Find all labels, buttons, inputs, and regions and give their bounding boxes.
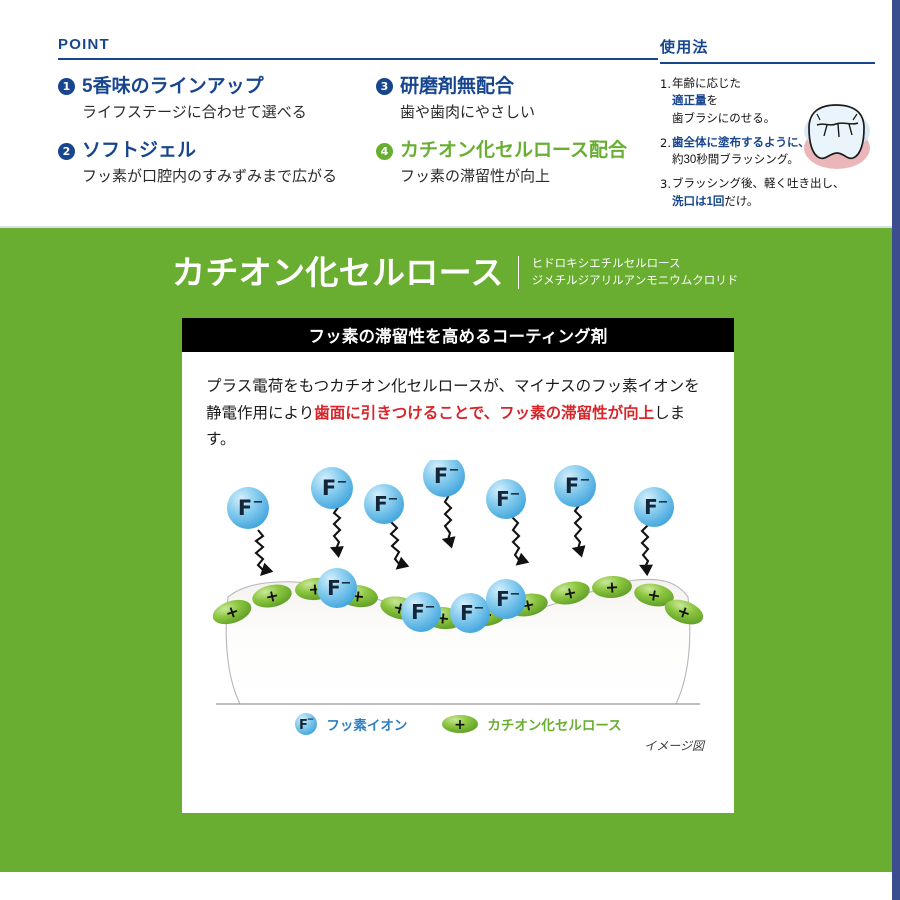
fluoride-ion-icon: F − (294, 712, 318, 736)
point-item-3-title-row: 3 研磨剤無配合 (376, 76, 658, 98)
point-item-2-title: ソフトジェル (82, 140, 196, 162)
legend-label-cellulose: カチオン化セルロース (487, 714, 621, 734)
legend-item-fluoride: F − フッ素イオン (294, 712, 407, 736)
usage-step-2-line-2: 約30秒間ブラッシング。 (672, 154, 799, 166)
usage-step-1-line-1: 年齢に応じた (672, 78, 741, 90)
point-item-4: 4 カチオン化セルロース配合 フッ素の滞留性が向上 (376, 140, 658, 186)
usage-step-1-line-2-tail: を (706, 95, 718, 107)
card-banner-text: フッ素の滞留性を高めるコーティング剤 (309, 323, 608, 347)
svg-text:−: − (658, 495, 669, 510)
usage-body: 1. 年齢に応じた 適正量を 歯ブラシにのせる。 2. 歯全体に塗布するように、… (660, 76, 875, 211)
point-badge-1: 1 (58, 78, 75, 95)
svg-text:F: F (327, 576, 341, 600)
usage-step-2-emphasis: 歯全体に塗布するように、 (672, 137, 810, 149)
svg-text:F: F (496, 487, 510, 511)
point-item-1-description: ライフステージに合わせて選べる (82, 103, 376, 123)
usage-step-3-emphasis: 洗口は1回 (672, 196, 724, 208)
point-item-4-title-row: 4 カチオン化セルロース配合 (376, 140, 658, 162)
legend-item-cellulose: + カチオン化セルロース (441, 713, 621, 735)
point-item-4-title: カチオン化セルロース配合 (400, 140, 627, 162)
svg-text:F: F (322, 476, 336, 500)
point-item-2-title-row: 2 ソフトジェル (58, 140, 376, 162)
green-subtitle-line-1: ヒドロキシエチルセルロース (532, 256, 739, 273)
tooth-with-gum-icon (793, 98, 879, 178)
svg-text:−: − (474, 601, 485, 616)
card-banner: フッ素の滞留性を高めるコーティング剤 (182, 318, 734, 352)
point-item-3-title: 研磨剤無配合 (400, 76, 514, 98)
svg-text:+: + (454, 717, 466, 733)
point-items-grid: 1 5香味のラインアップ ライフステージに合わせて選べる 3 研磨剤無配合 歯や… (58, 76, 658, 187)
attraction-arrows (256, 495, 648, 571)
image-note: イメージ図 (644, 737, 704, 754)
usage-heading-rule (660, 62, 875, 64)
usage-step-3-line-2-tail: だけ。 (724, 196, 758, 208)
usage-heading: 使用法 (660, 36, 875, 62)
point-item-1-title-row: 1 5香味のラインアップ (58, 76, 376, 98)
lead-run-2-highlight: 歯面に引きつけることで、フッ素の滞留性が向上 (314, 405, 654, 422)
svg-text:F: F (411, 600, 425, 624)
point-item-2-description: フッ素が口腔内のすみずみまで広がる (82, 167, 376, 187)
point-item-4-description: フッ素の滞留性が向上 (400, 167, 658, 187)
point-item-1-title: 5香味のラインアップ (82, 76, 264, 98)
cationic-cellulose-section: カチオン化セルロース ヒドロキシエチルセルロース ジメチルジアリルアンモニウムク… (0, 228, 892, 872)
info-card: フッ素の滞留性を高めるコーティング剤 プラス電荷をもつカチオン化セルロースが、マ… (182, 318, 734, 813)
point-item-1: 1 5香味のラインアップ ライフステージに合わせて選べる (58, 76, 376, 122)
svg-text:−: − (307, 715, 315, 725)
cationic-cellulose-icon: + (441, 713, 479, 735)
svg-text:F: F (565, 474, 579, 498)
point-heading-rule (58, 58, 658, 60)
svg-text:F: F (238, 496, 252, 520)
svg-text:−: − (425, 600, 436, 615)
svg-text:−: − (580, 473, 591, 488)
usage-step-1-line-3: 歯ブラシにのせる。 (672, 113, 775, 125)
point-badge-4: 4 (376, 143, 393, 160)
svg-text:+: + (605, 577, 619, 597)
point-item-3-description: 歯や歯肉にやさしい (400, 103, 658, 123)
point-badge-2: 2 (58, 143, 75, 160)
svg-text:−: − (341, 576, 352, 591)
point-item-3: 3 研磨剤無配合 歯や歯肉にやさしい (376, 76, 658, 122)
green-section-title: カチオン化セルロース (172, 256, 504, 289)
svg-text:−: − (337, 475, 348, 490)
svg-text:F: F (374, 492, 388, 516)
usage-step-1-number: 1. (660, 76, 671, 128)
point-section: POINT 1 5香味のラインアップ ライフステージに合わせて選べる 3 研磨剤… (58, 36, 658, 187)
point-heading: POINT (58, 36, 658, 58)
point-badge-3: 3 (376, 78, 393, 95)
svg-text:−: − (388, 492, 399, 507)
usage-step-3-line-1: ブラッシング後、軽く吐き出し、 (672, 178, 845, 190)
diagram-legend: F − フッ素イオン (182, 712, 734, 736)
lead-paragraph: プラス電荷をもつカチオン化セルロースが、マイナスのフッ素イオンを静電作用により歯… (206, 374, 710, 454)
svg-text:F: F (460, 601, 474, 625)
svg-text:−: − (510, 487, 521, 502)
green-title-row: カチオン化セルロース ヒドロキシエチルセルロース ジメチルジアリルアンモニウムク… (172, 256, 738, 289)
legend-label-fluoride: フッ素イオン (326, 714, 407, 734)
svg-text:F: F (496, 587, 510, 611)
usage-step-3-number: 3. (660, 176, 671, 211)
card-body: プラス電荷をもつカチオン化セルロースが、マイナスのフッ素イオンを静電作用により歯… (182, 352, 734, 760)
svg-text:−: − (510, 587, 521, 602)
usage-step-1-emphasis: 適正量 (672, 95, 707, 107)
usage-step-3-text: ブラッシング後、軽く吐き出し、 洗口は1回だけ。 (672, 176, 845, 211)
usage-section: 使用法 1. 年齢に応じた 適正量を (660, 36, 875, 218)
svg-text:−: − (253, 495, 264, 510)
svg-text:F: F (644, 495, 658, 519)
top-info-section: POINT 1 5香味のラインアップ ライフステージに合わせて選べる 3 研磨剤… (0, 0, 892, 228)
usage-step-1-text: 年齢に応じた 適正量を 歯ブラシにのせる。 (672, 76, 775, 128)
usage-step-2-number: 2. (660, 135, 671, 170)
svg-text:−: − (449, 463, 460, 478)
green-section-subtitle: ヒドロキシエチルセルロース ジメチルジアリルアンモニウムクロリド (518, 256, 739, 289)
right-edge-strip (892, 0, 900, 900)
usage-step-2-text: 歯全体に塗布するように、 約30秒間ブラッシング。 (672, 135, 810, 170)
usage-step-3: 3. ブラッシング後、軽く吐き出し、 洗口は1回だけ。 (660, 176, 875, 211)
green-subtitle-line-2: ジメチルジアリルアンモニウムクロリド (532, 273, 739, 290)
svg-text:F: F (434, 464, 448, 488)
point-item-2: 2 ソフトジェル フッ素が口腔内のすみずみまで広がる (58, 140, 376, 186)
